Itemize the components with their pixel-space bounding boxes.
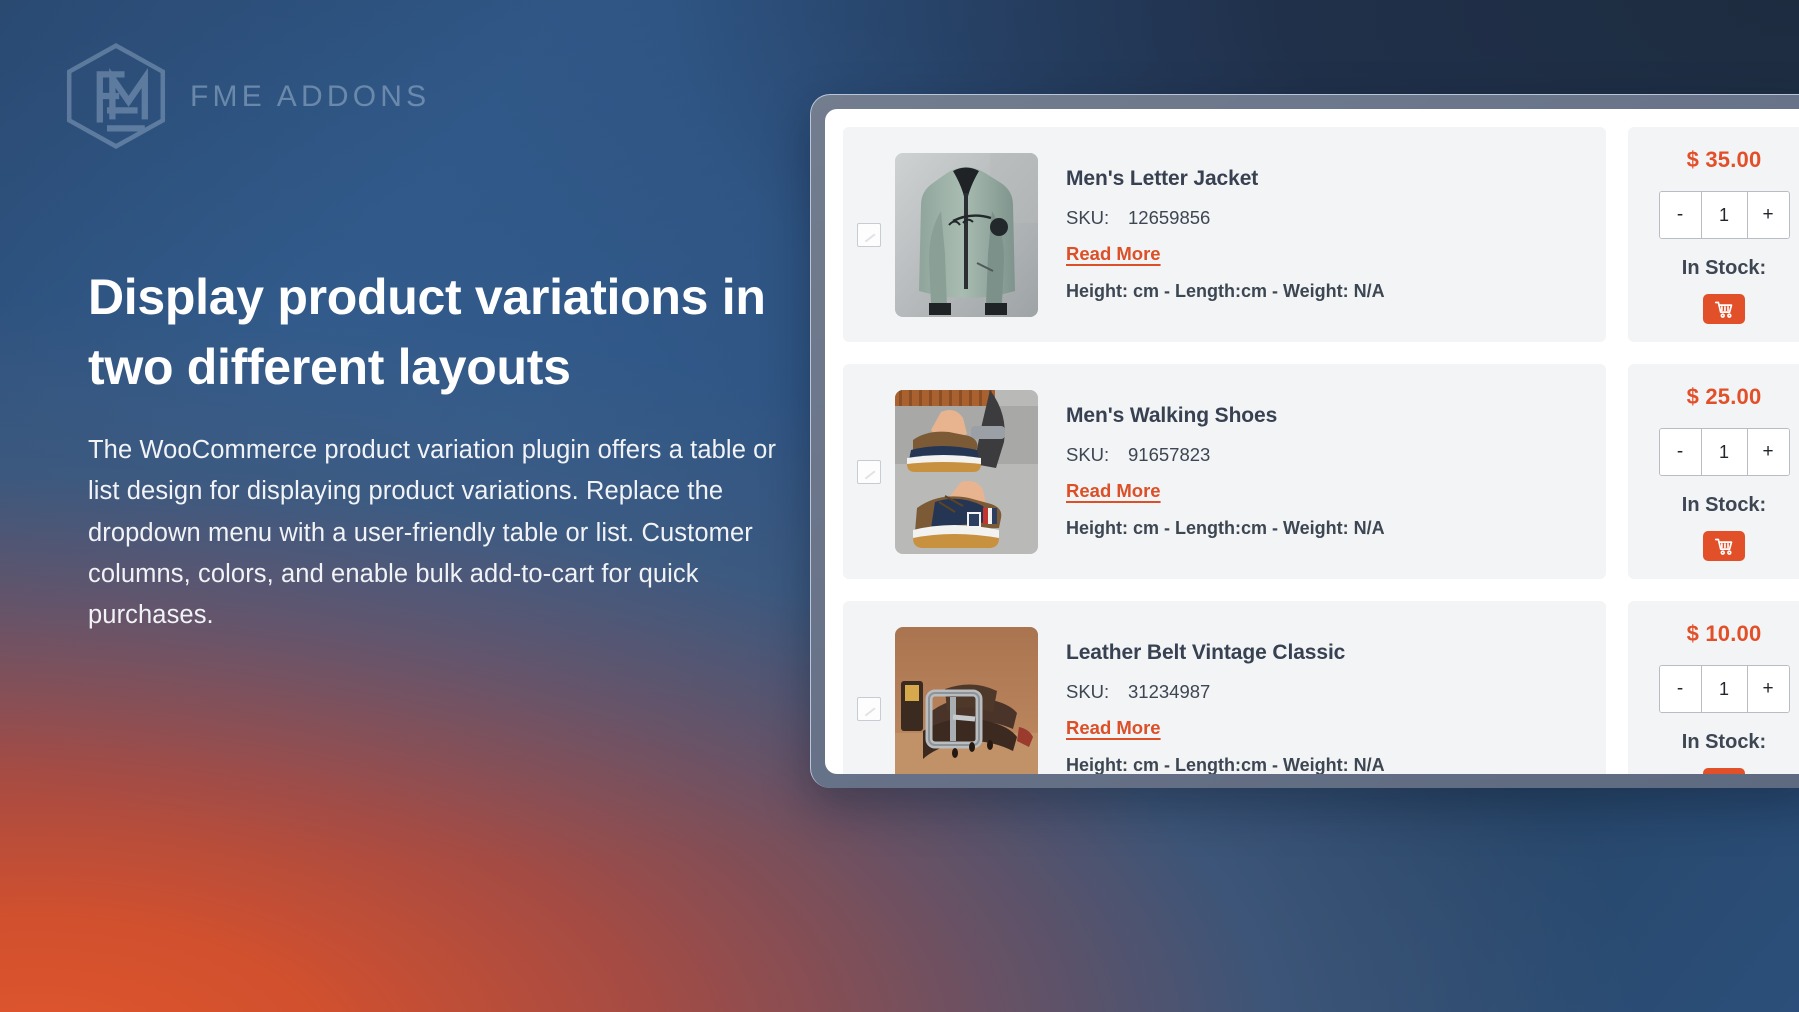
add-to-cart-button[interactable] [1703, 531, 1745, 561]
quantity-decrement-button[interactable]: - [1660, 429, 1701, 475]
stock-status: In Stock: [1682, 731, 1766, 754]
sku-value: 12659856 [1128, 207, 1210, 229]
read-more-link[interactable]: Read More [1066, 243, 1161, 265]
product-price-panel: $ 35.00 - 1 + In Stock: [1628, 127, 1799, 342]
fme-hexagon-logo-icon [62, 42, 170, 152]
product-sku: SKU: 91657823 [1066, 444, 1588, 466]
quantity-stepper[interactable]: - 1 + [1659, 428, 1790, 476]
table-row: Men's Letter Jacket SKU: 12659856 Read M… [843, 127, 1799, 342]
shopping-cart-icon [1714, 773, 1735, 775]
shopping-cart-icon [1714, 536, 1735, 557]
product-thumbnail-shoes [895, 390, 1038, 554]
product-info: Men's Letter Jacket SKU: 12659856 Read M… [1052, 167, 1588, 302]
table-row: Leather Belt Vintage Classic SKU: 312349… [843, 601, 1799, 774]
product-variation-list: Men's Letter Jacket SKU: 12659856 Read M… [843, 127, 1799, 774]
product-dimensions: Height: cm - Length:cm - Weight: N/A [1066, 281, 1588, 302]
quantity-increment-button[interactable]: + [1748, 429, 1789, 475]
brand-name: FME ADDONS [190, 80, 430, 114]
page-title: Display product variations in two differ… [88, 262, 788, 402]
sku-label: SKU: [1066, 444, 1128, 466]
product-info: Leather Belt Vintage Classic SKU: 312349… [1052, 641, 1588, 774]
product-dimensions: Height: cm - Length:cm - Weight: N/A [1066, 755, 1588, 774]
stock-status: In Stock: [1682, 494, 1766, 517]
product-dimensions: Height: cm - Length:cm - Weight: N/A [1066, 518, 1588, 539]
sku-label: SKU: [1066, 207, 1128, 229]
add-to-cart-button[interactable] [1703, 768, 1745, 774]
sku-label: SKU: [1066, 681, 1128, 703]
quantity-increment-button[interactable]: + [1748, 666, 1789, 712]
quantity-decrement-button[interactable]: - [1660, 192, 1701, 238]
shopping-cart-icon [1714, 299, 1735, 320]
product-price: $ 10.00 [1687, 621, 1762, 647]
product-select-checkbox[interactable] [857, 223, 881, 247]
product-row-main: Leather Belt Vintage Classic SKU: 312349… [843, 601, 1606, 774]
product-sku: SKU: 12659856 [1066, 207, 1588, 229]
product-title: Men's Walking Shoes [1066, 404, 1588, 428]
hero-description: The WooCommerce product variation plugin… [88, 430, 788, 636]
quantity-stepper[interactable]: - 1 + [1659, 665, 1790, 713]
product-price: $ 25.00 [1687, 384, 1762, 410]
product-select-checkbox[interactable] [857, 460, 881, 484]
read-more-link[interactable]: Read More [1066, 480, 1161, 502]
product-thumbnail-jacket [895, 153, 1038, 317]
product-row-main: Men's Walking Shoes SKU: 91657823 Read M… [843, 364, 1606, 579]
quantity-decrement-button[interactable]: - [1660, 666, 1701, 712]
sku-value: 31234987 [1128, 681, 1210, 703]
product-price: $ 35.00 [1687, 147, 1762, 173]
product-price-panel: $ 25.00 - 1 + In Stock: [1628, 364, 1799, 579]
hero-copy: Display product variations in two differ… [88, 262, 788, 636]
product-info: Men's Walking Shoes SKU: 91657823 Read M… [1052, 404, 1588, 539]
brand-logo: FME ADDONS [62, 42, 430, 152]
product-row-main: Men's Letter Jacket SKU: 12659856 Read M… [843, 127, 1606, 342]
product-title: Men's Letter Jacket [1066, 167, 1588, 191]
add-to-cart-button[interactable] [1703, 294, 1745, 324]
read-more-link[interactable]: Read More [1066, 717, 1161, 739]
product-sku: SKU: 31234987 [1066, 681, 1588, 703]
product-title: Leather Belt Vintage Classic [1066, 641, 1588, 665]
device-screen: Men's Letter Jacket SKU: 12659856 Read M… [825, 109, 1799, 774]
quantity-increment-button[interactable]: + [1748, 192, 1789, 238]
product-price-panel: $ 10.00 - 1 + In Stock: [1628, 601, 1799, 774]
device-mockup: Men's Letter Jacket SKU: 12659856 Read M… [810, 94, 1799, 788]
sku-value: 91657823 [1128, 444, 1210, 466]
quantity-input[interactable]: 1 [1701, 666, 1748, 712]
product-thumbnail-belt [895, 627, 1038, 775]
product-select-checkbox[interactable] [857, 697, 881, 721]
quantity-stepper[interactable]: - 1 + [1659, 191, 1790, 239]
stock-status: In Stock: [1682, 257, 1766, 280]
quantity-input[interactable]: 1 [1701, 192, 1748, 238]
quantity-input[interactable]: 1 [1701, 429, 1748, 475]
table-row: Men's Walking Shoes SKU: 91657823 Read M… [843, 364, 1799, 579]
